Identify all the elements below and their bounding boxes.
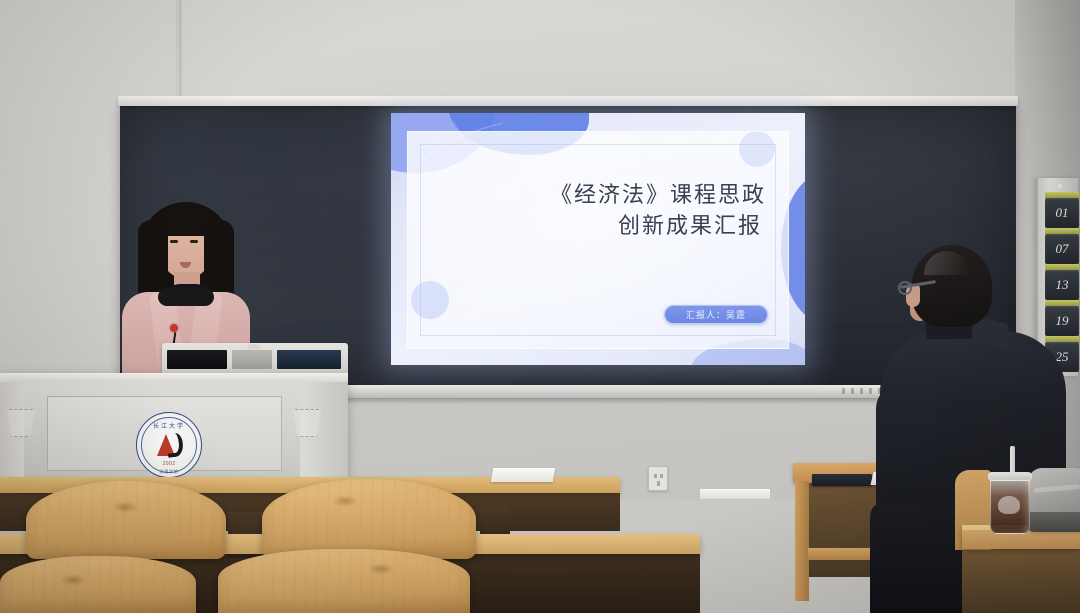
wall-outlet-icon <box>648 466 668 491</box>
classroom-chair <box>262 479 476 559</box>
rack-plate: 01 <box>1045 198 1079 228</box>
chair-wood-knot <box>368 563 394 575</box>
gray-bag-object <box>1028 468 1080 530</box>
classroom-chair <box>218 549 470 613</box>
chair-wood-knot <box>60 574 86 586</box>
slide-title: 《经济法》课程思政 创新成果汇报 <box>432 180 766 242</box>
console-panel-middle <box>232 350 272 369</box>
rack-mount-dot <box>1058 184 1062 188</box>
chair-wood-grain <box>218 549 470 613</box>
notebook-object <box>812 474 872 486</box>
wall-conduit <box>176 0 180 98</box>
chair-wood-grain <box>0 556 196 613</box>
emblem-year: 2002 <box>137 461 201 467</box>
classroom-scene: 《经济法》课程思政 创新成果汇报 汇报人：吴霆 <box>0 0 1080 613</box>
emblem-name-bottom: 文理学院 <box>137 469 201 475</box>
console-display-left <box>167 350 227 369</box>
projected-slide: 《经济法》课程思政 创新成果汇报 汇报人：吴霆 <box>391 113 805 365</box>
classroom-chair <box>0 556 196 613</box>
cup-logo-icon <box>998 496 1020 514</box>
far-right-desk-front <box>962 547 1080 613</box>
slide-content-card: 《经济法》课程思政 创新成果汇报 汇报人：吴霆 <box>407 131 789 349</box>
presenter-badge-pin-icon <box>170 324 178 332</box>
glasses-lens-icon <box>898 281 912 295</box>
presenter-eye-left <box>170 240 178 243</box>
right-desk-leg <box>795 481 809 601</box>
chair-wood-grain <box>262 479 476 559</box>
classroom-chair <box>26 481 226 559</box>
console-knob <box>247 344 261 349</box>
lectern-top-edge <box>0 373 348 382</box>
presenter-eye-right <box>190 240 198 243</box>
podium-console <box>162 343 348 375</box>
chair-wood-grain <box>26 481 226 559</box>
emblem-mark-black <box>166 432 184 458</box>
university-emblem: 长江大学 2002 文理学院 <box>136 412 202 478</box>
chair-wood-knot <box>112 501 138 513</box>
cup-lid <box>988 472 1032 481</box>
bag-fold <box>1034 484 1080 493</box>
presenter-badge: 汇报人：吴霆 <box>664 305 768 324</box>
paper-pad-object-2 <box>700 489 770 499</box>
chair-wood-knot <box>332 495 358 507</box>
presenter-collar <box>158 288 214 306</box>
console-display-right <box>277 350 341 369</box>
drink-cup-object <box>988 462 1032 534</box>
slide-title-line-1: 《经济法》课程思政 <box>432 180 766 210</box>
paper-pad-object <box>491 468 555 482</box>
slide-title-line-2: 创新成果汇报 <box>432 210 766 242</box>
blackboard-top-frame <box>118 96 1018 106</box>
bag-shadow-part <box>1028 512 1080 532</box>
emblem-mark-icon <box>155 430 185 460</box>
emblem-name-top: 长江大学 <box>137 421 201 430</box>
